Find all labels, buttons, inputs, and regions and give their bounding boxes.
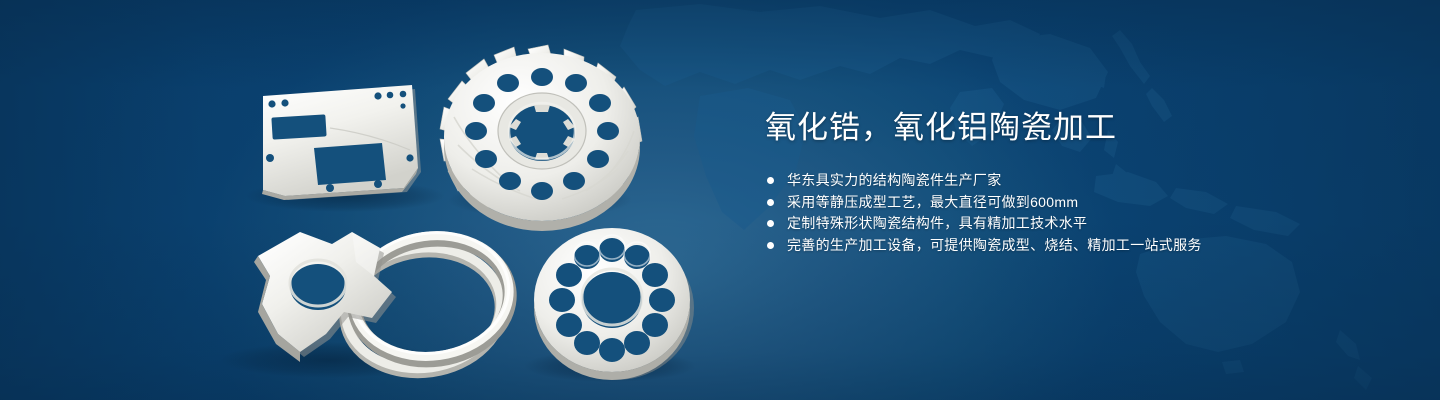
ceramic-mounting-plate	[262, 85, 421, 200]
feature-text: 采用等静压成型工艺，最大直径可做到600mm	[787, 194, 1078, 210]
list-item: 华东具实力的结构陶瓷件生产厂家	[765, 170, 1305, 192]
ceramic-products-photo	[0, 0, 760, 400]
bullet-icon	[767, 220, 774, 227]
hero-banner: 氧化锆，氧化铝陶瓷加工 华东具实力的结构陶瓷件生产厂家 采用等静压成型工艺，最大…	[0, 0, 1440, 400]
ceramic-perforated-disc	[534, 228, 694, 380]
bullet-icon	[767, 177, 774, 184]
feature-text: 完善的生产加工设备，可提供陶瓷成型、烧结、精加工一站式服务	[787, 237, 1202, 253]
feature-text: 华东具实力的结构陶瓷件生产厂家	[787, 172, 1002, 188]
banner-text-block: 氧化锆，氧化铝陶瓷加工 华东具实力的结构陶瓷件生产厂家 采用等静压成型工艺，最大…	[765, 108, 1305, 256]
feature-text: 定制特殊形状陶瓷结构件，具有精加工技术水平	[787, 215, 1087, 231]
feature-list: 华东具实力的结构陶瓷件生产厂家 采用等静压成型工艺，最大直径可做到600mm 定…	[765, 170, 1305, 256]
bullet-icon	[767, 199, 774, 206]
list-item: 采用等静压成型工艺，最大直径可做到600mm	[765, 192, 1305, 214]
bullet-icon	[767, 242, 774, 249]
ceramic-impeller	[440, 45, 642, 231]
page-title: 氧化锆，氧化铝陶瓷加工	[765, 108, 1305, 148]
list-item: 定制特殊形状陶瓷结构件，具有精加工技术水平	[765, 213, 1305, 235]
list-item: 完善的生产加工设备，可提供陶瓷成型、烧结、精加工一站式服务	[765, 235, 1305, 257]
